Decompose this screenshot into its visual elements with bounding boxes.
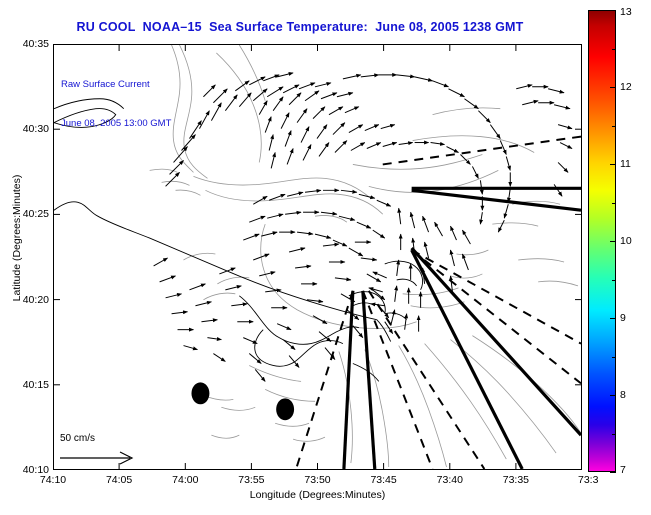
- x-tick-2: 74:00: [172, 474, 198, 486]
- station-marker-1: [191, 382, 209, 404]
- y-tick-4: 40:15: [23, 379, 49, 391]
- x-tick-4: 73:50: [304, 474, 330, 486]
- colorbar-tick-9: [610, 318, 616, 319]
- colorbar-tick-13: [610, 10, 616, 11]
- colorbar-tick-12: [610, 87, 616, 88]
- scale-label: 50 cm/s: [60, 433, 95, 444]
- colorbar-tick-minor-3: [612, 203, 616, 204]
- figure-canvas: RU COOL NOAA–15 Sea Surface Temperature:…: [0, 0, 651, 515]
- colorbar-label-12: 12: [620, 81, 632, 93]
- colorbar-tick-7: [610, 472, 616, 473]
- annotation-line-2: June 08, 2005 13:00 GMT: [61, 117, 171, 130]
- colorbar-label-13: 13: [620, 6, 632, 18]
- colorbar-label-7: 7: [620, 464, 626, 476]
- x-tick-7: 73:35: [503, 474, 529, 486]
- colorbar-label-9: 9: [620, 312, 626, 324]
- x-tick-6: 73:40: [437, 474, 463, 486]
- x-tick-1: 74:05: [106, 474, 132, 486]
- station-markers: [191, 382, 294, 420]
- colorbar-ticks: [588, 10, 616, 472]
- x-tick-0: 74:10: [40, 474, 66, 486]
- colorbar-tick-8: [610, 395, 616, 396]
- y-tick-1: 40:30: [23, 123, 49, 135]
- colorbar-tick-10: [610, 241, 616, 242]
- x-tick-3: 73:55: [238, 474, 264, 486]
- colorbar-tick-minor-2: [612, 126, 616, 127]
- station-marker-2: [276, 398, 294, 420]
- x-tick-8: 73:3: [578, 474, 598, 486]
- y-tick-2: 40:25: [23, 208, 49, 220]
- colorbar-tick-minor-4: [612, 280, 616, 281]
- colorbar-tick-11: [610, 164, 616, 165]
- x-axis-label: Longitude (Degrees:Minutes): [53, 489, 582, 501]
- y-axis-label: Latitude (Degrees:Minutes): [11, 123, 23, 353]
- colorbar-label-8: 8: [620, 389, 626, 401]
- scale-reference-arrow: 50 cm/s: [58, 433, 176, 469]
- annotation-line-1: Raw Surface Current: [61, 78, 171, 91]
- colorbar-tick-minor-5: [612, 357, 616, 358]
- plot-annotation: Raw Surface Current June 08, 2005 13:00 …: [61, 52, 171, 156]
- figure-title: RU COOL NOAA–15 Sea Surface Temperature:…: [0, 20, 600, 34]
- colorbar-label-11: 11: [620, 158, 631, 170]
- scale-arrow-icon: [58, 448, 168, 468]
- colorbar-tick-minor-6: [612, 434, 616, 435]
- colorbar-label-10: 10: [620, 235, 632, 247]
- y-axis-ticks: 40:35 40:30 40:25 40:20 40:15 40:10: [0, 44, 49, 470]
- y-tick-3: 40:20: [23, 294, 49, 306]
- y-tick-0: 40:35: [23, 38, 49, 50]
- bathymetry-contours: [150, 45, 581, 467]
- map-plot-area: Raw Surface Current June 08, 2005 13:00 …: [53, 44, 582, 470]
- x-axis-ticks: 74:10 74:05 74:00 73:55 73:50 73:45 73:4…: [0, 474, 651, 490]
- surface-current-vectors: [154, 73, 572, 382]
- colorbar-tick-minor-1: [612, 49, 616, 50]
- x-tick-5: 73:45: [370, 474, 396, 486]
